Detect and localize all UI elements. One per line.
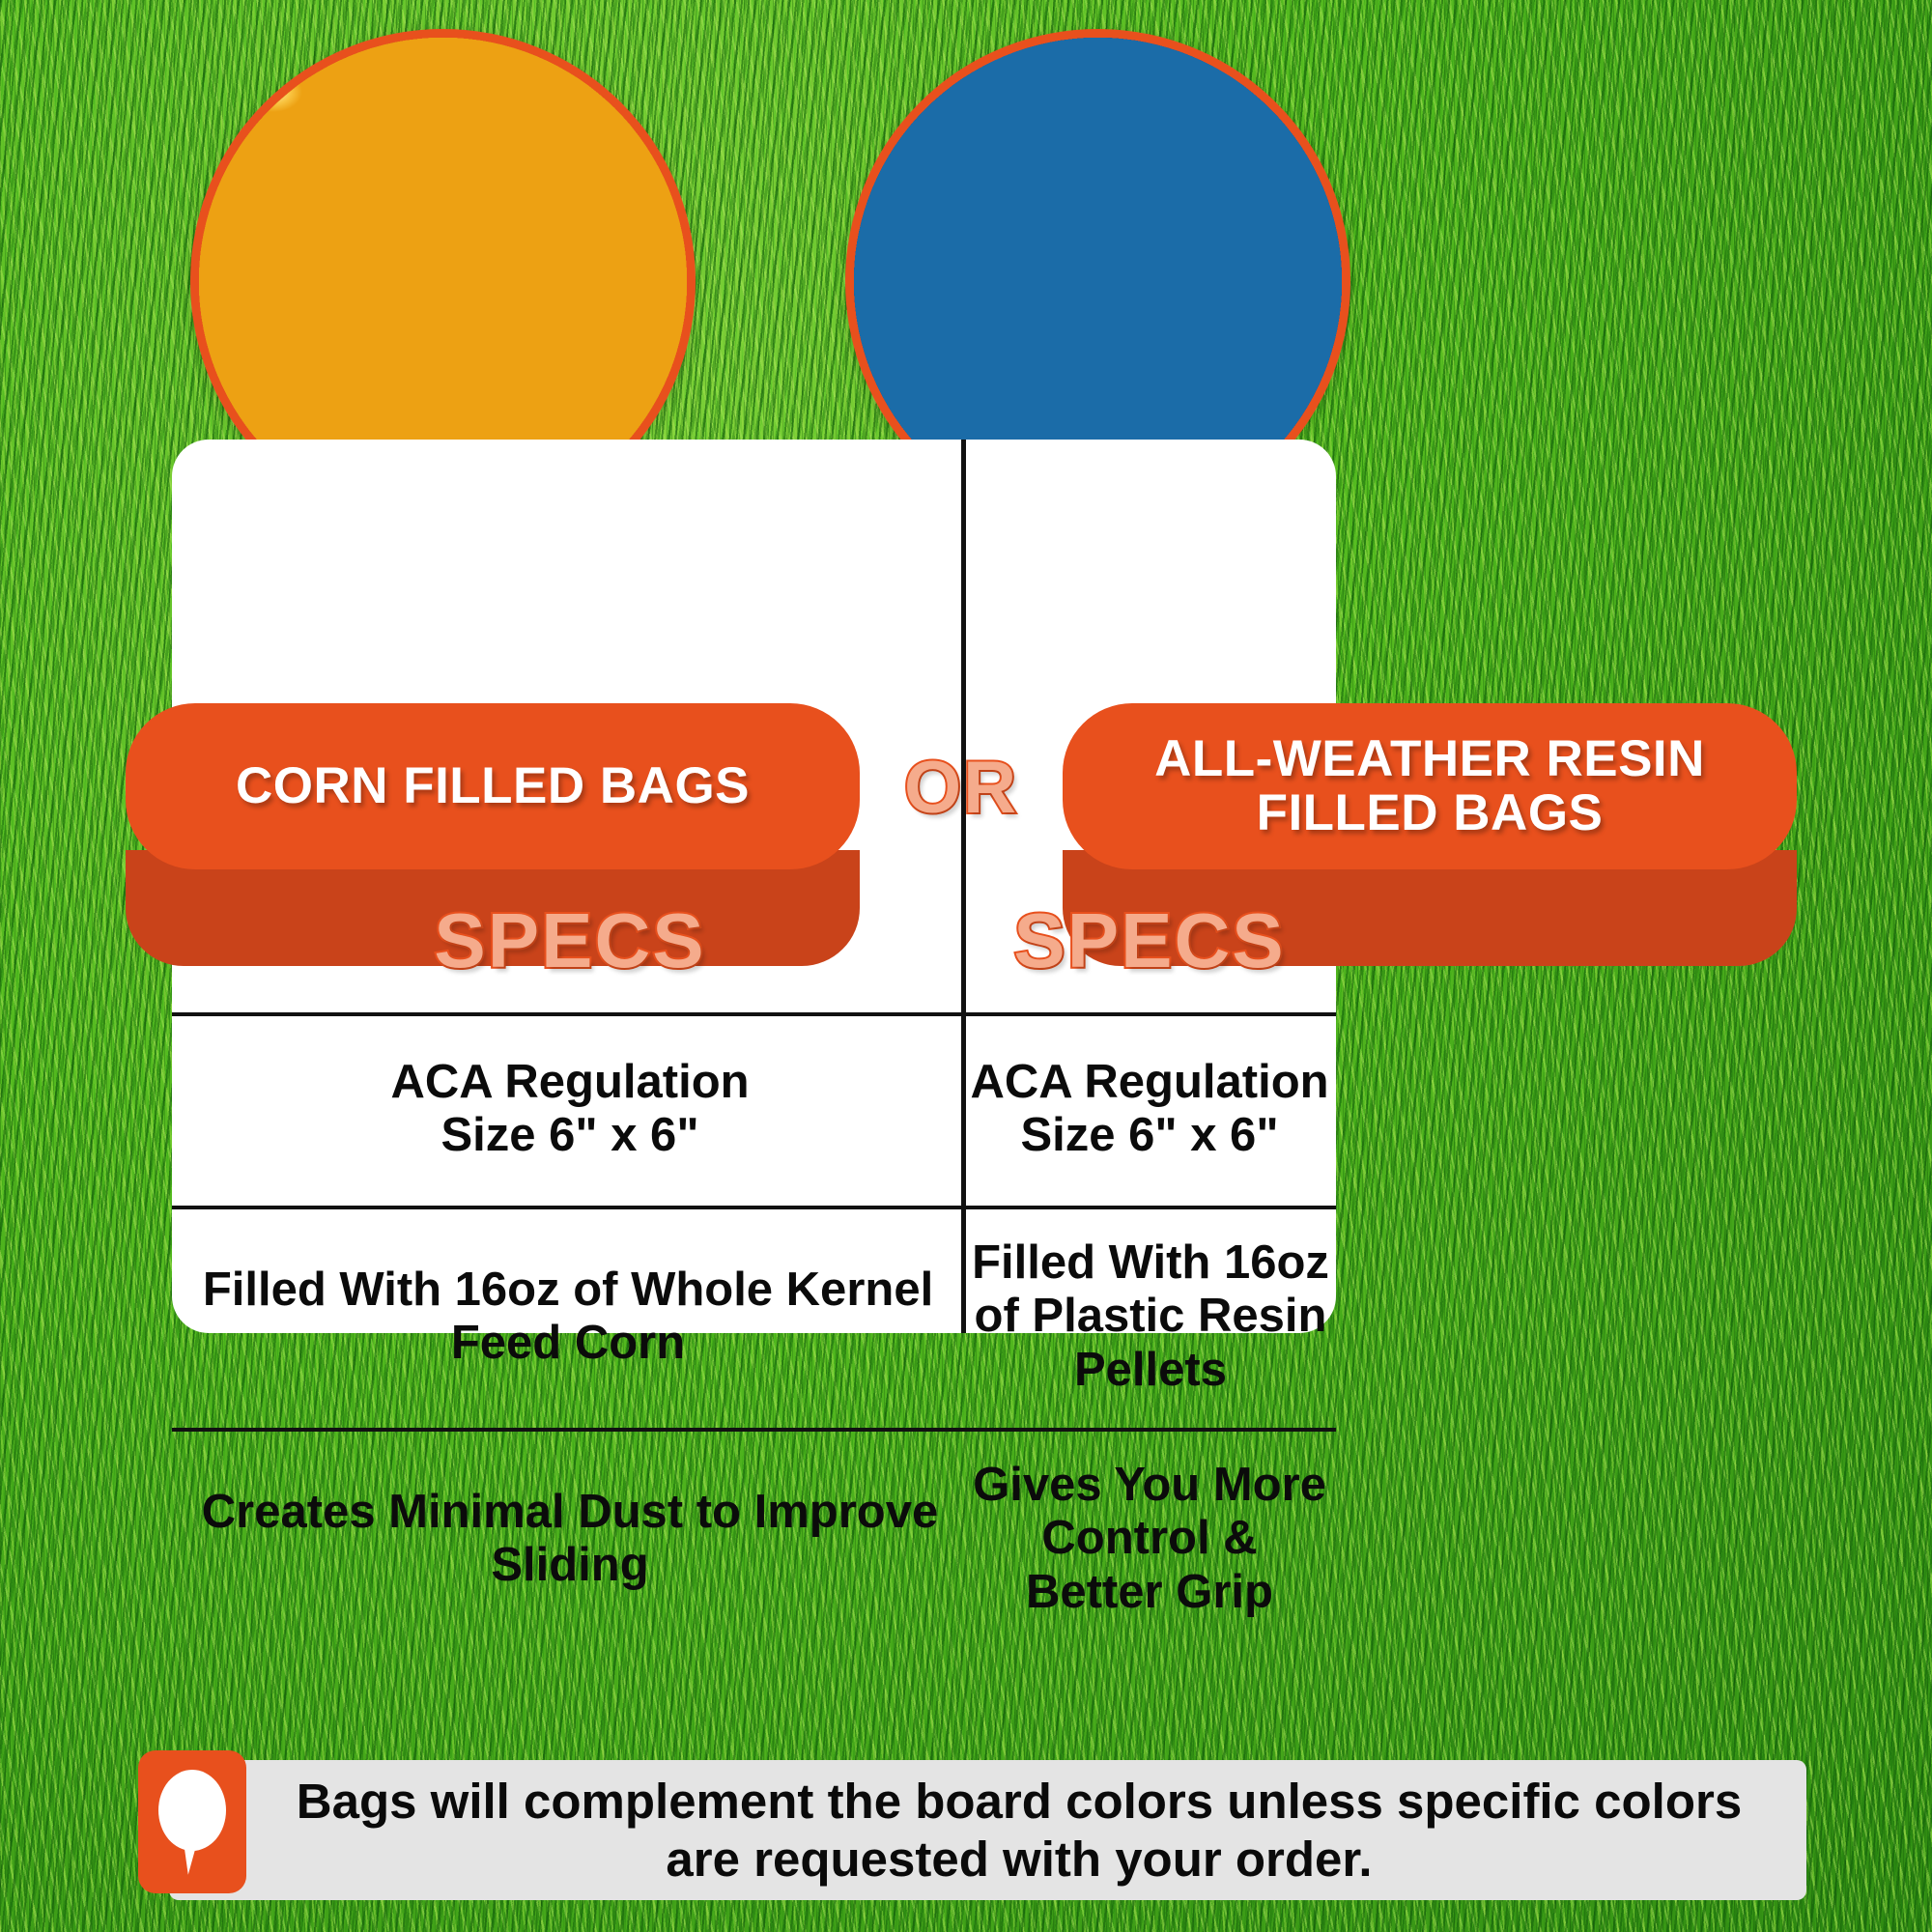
resin-header-pill[interactable]: ALL-WEATHER RESIN FILLED BAGS	[1063, 703, 1797, 869]
table-cell-corn-row1: ACA Regulation Size 6" x 6"	[180, 1012, 960, 1206]
resin-specs-label-cell: SPECS	[967, 869, 1332, 1012]
corn-specs-label: SPECS	[434, 897, 705, 984]
table-cell-resin-row2: Filled With 16oz of Plastic Resin Pellet…	[967, 1206, 1334, 1428]
table-cell-corn-row2: Filled With 16oz of Whole Kernel Feed Co…	[176, 1206, 960, 1428]
resin-specs-label: SPECS	[1013, 897, 1285, 984]
table-cell-corn-row3: Creates Minimal Dust to Improve Sliding	[180, 1428, 960, 1650]
column-divider	[961, 440, 966, 1333]
table-cell-resin-row3: Gives You More Control & Better Grip	[967, 1428, 1332, 1650]
note-text: Bags will complement the board colors un…	[266, 1762, 1773, 1899]
corn-header-label: CORN FILLED BAGS	[236, 759, 750, 813]
corn-header-pill[interactable]: CORN FILLED BAGS	[126, 703, 860, 869]
speech-bubble-shape	[158, 1770, 226, 1851]
corn-specs-label-cell: SPECS	[180, 869, 960, 1012]
speech-bubble-icon	[138, 1750, 246, 1893]
resin-header-label: ALL-WEATHER RESIN FILLED BAGS	[1063, 732, 1797, 840]
table-cell-resin-row1: ACA Regulation Size 6" x 6"	[967, 1012, 1332, 1206]
